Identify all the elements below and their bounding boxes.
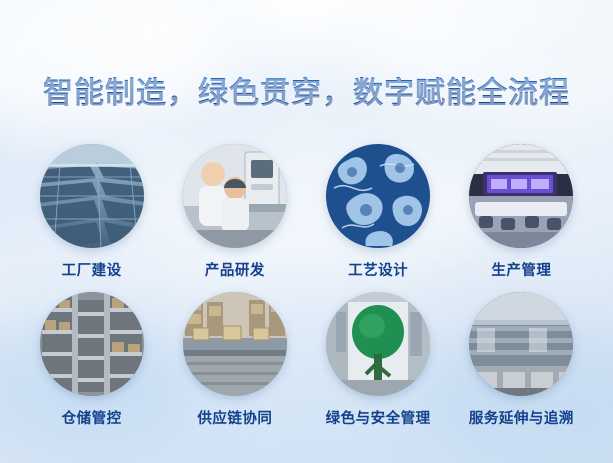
grid-item[interactable]: 工厂建设: [24, 144, 159, 280]
control-room-monitors-photo: [469, 144, 573, 248]
warehouse-conveyor-cartons-photo: [183, 292, 287, 396]
green-tree-mural-corridor-photo: [326, 292, 430, 396]
grid-item[interactable]: 绿色与安全管理: [311, 292, 446, 428]
grid-item-label: 工艺设计: [348, 259, 408, 280]
grid-item-label: 服务延伸与追溯: [469, 407, 574, 428]
industrial-building-exterior-photo: [469, 292, 573, 396]
grid-item[interactable]: 产品研发: [167, 144, 302, 280]
warehouse-racking-shelves-photo: [40, 292, 144, 396]
blue-floral-fabric-pattern-photo: [326, 144, 430, 248]
capability-grid: 工厂建设: [24, 144, 589, 428]
engineers-lab-testing-photo: [183, 144, 287, 248]
grid-item-label: 绿色与安全管理: [326, 407, 431, 428]
grid-item-label: 产品研发: [205, 259, 265, 280]
grid-item-label: 工厂建设: [62, 259, 122, 280]
grid-item[interactable]: 生产管理: [454, 144, 589, 280]
grid-item[interactable]: 服务延伸与追溯: [454, 292, 589, 428]
grid-item-label: 供应链协同: [197, 407, 272, 428]
grid-item-label: 仓储管控: [62, 407, 122, 428]
factory-rooftop-solar-panels-photo: [40, 144, 144, 248]
poster-canvas: 智能制造，绿色贯穿，数字赋能全流程: [0, 0, 613, 463]
grid-item[interactable]: 工艺设计: [311, 144, 446, 280]
grid-item[interactable]: 供应链协同: [167, 292, 302, 428]
poster-headline: 智能制造，绿色贯穿，数字赋能全流程: [0, 68, 613, 112]
grid-item-label: 生产管理: [491, 259, 551, 280]
grid-item[interactable]: 仓储管控: [24, 292, 159, 428]
